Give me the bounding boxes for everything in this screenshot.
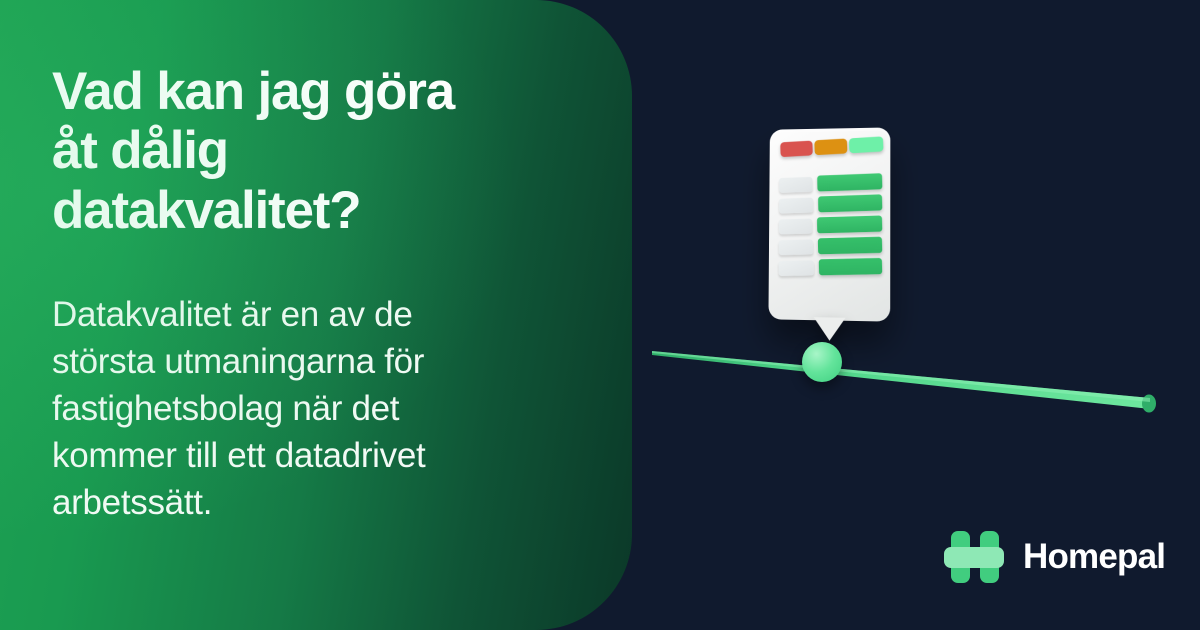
left-green-panel: Vad kan jag göra åt dålig datakvalitet? … [0, 0, 632, 630]
status-chip-red [780, 141, 813, 158]
row-label-block [779, 197, 814, 213]
data-row [779, 215, 883, 234]
row-value-bar [817, 173, 882, 191]
homepal-h-mark-icon [944, 526, 1006, 588]
page-subtext: Datakvalitet är en av de största utmanin… [52, 292, 522, 526]
homepal-logo: Homepal [944, 526, 1165, 588]
row-label-block [779, 239, 814, 255]
data-quality-card [768, 127, 890, 321]
page-title: Vad kan jag göra åt dålig datakvalitet? [52, 62, 572, 240]
row-value-bar [819, 258, 883, 275]
slider-knob[interactable] [802, 342, 842, 382]
logo-crossbar [944, 547, 1004, 568]
row-label-block [779, 176, 813, 192]
row-value-bar [818, 237, 882, 255]
row-value-bar [818, 194, 882, 212]
data-row [778, 258, 882, 276]
data-row [779, 173, 882, 193]
logo-wordmark: Homepal [1023, 537, 1165, 577]
slider-rod-icon [630, 320, 1200, 430]
data-row-list [779, 175, 883, 276]
data-row [779, 194, 883, 213]
row-label-block [779, 218, 813, 234]
status-chip-group [780, 136, 883, 157]
data-row [779, 237, 883, 255]
slider-control[interactable] [630, 320, 1200, 430]
row-label-block [778, 260, 814, 276]
status-chip-mint [849, 136, 884, 153]
status-chip-amber [814, 139, 847, 156]
row-value-bar [817, 215, 882, 233]
